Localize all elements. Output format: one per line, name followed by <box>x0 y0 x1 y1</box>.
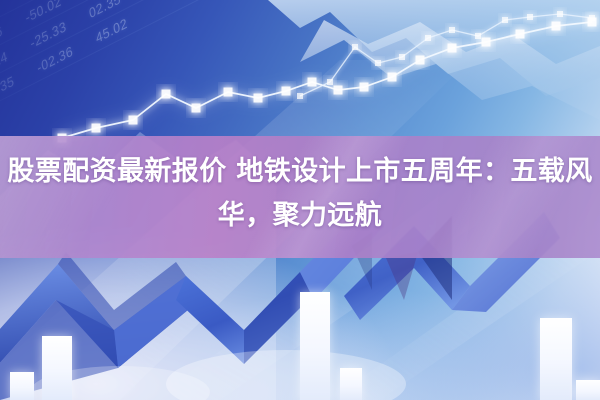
headline-line-2: 华，聚力远航 <box>0 194 600 238</box>
stock-news-banner: -02.36-11.25+45.0221.0-50.02-02.3545.028… <box>0 0 600 400</box>
page-title: 股票配资最新报价 地铁设计上市五周年：五载风 华，聚力远航 <box>0 150 600 238</box>
headline-line-1: 股票配资最新报价 地铁设计上市五周年：五载风 <box>0 150 600 194</box>
